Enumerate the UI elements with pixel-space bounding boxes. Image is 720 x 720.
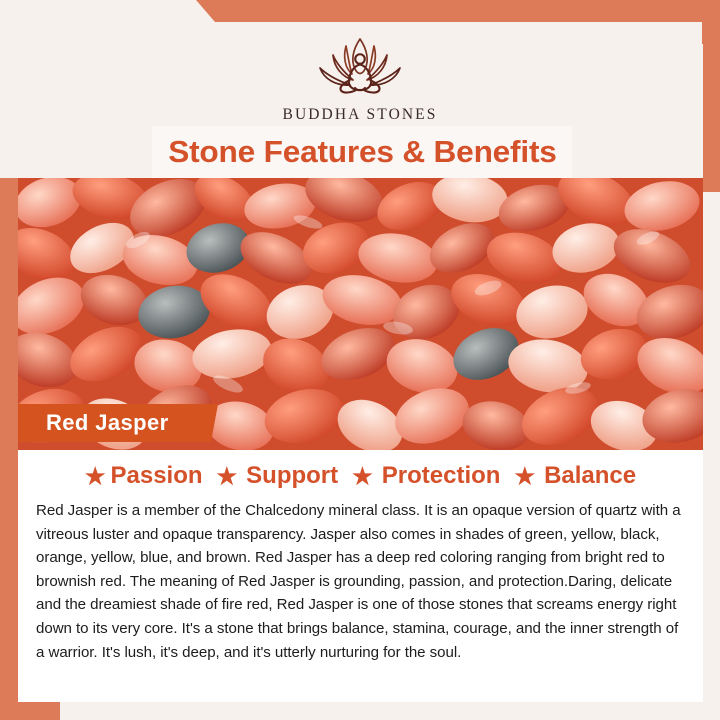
benefit-item-passion: ★ Passion xyxy=(85,462,203,490)
benefit-label-balance: Balance xyxy=(544,462,636,490)
star-icon: ★ xyxy=(514,465,535,488)
benefit-label-support: Support xyxy=(246,462,338,490)
right-orange-rail xyxy=(703,0,720,192)
left-orange-rail xyxy=(0,178,18,720)
benefit-item-protection: ★ Protection xyxy=(352,462,500,490)
brand-logo: BUDDHA STONES xyxy=(18,30,702,124)
stone-name-label: Red Jasper xyxy=(18,410,169,436)
star-icon: ★ xyxy=(352,465,373,488)
benefit-item-balance: ★ Balance xyxy=(514,462,636,490)
brand-name: BUDDHA STONES xyxy=(283,106,438,124)
star-icon: ★ xyxy=(217,465,238,488)
lotus-meditation-figure-icon xyxy=(300,30,420,102)
star-icon: ★ xyxy=(85,465,106,488)
description-card: ★ Passion ★ Support ★ Protection ★ Balan… xyxy=(18,450,703,702)
description-paragraph: Red Jasper is a member of the Chalcedony… xyxy=(36,499,685,664)
bottom-orange-rail xyxy=(0,702,720,720)
benefit-keyword-list: ★ Passion ★ Support ★ Protection ★ Balan… xyxy=(18,450,703,490)
stone-name-banner: Red Jasper xyxy=(18,404,218,442)
infographic-page: BUDDHA STONES xyxy=(0,0,720,720)
page-title-plate: Stone Features & Benefits xyxy=(152,126,572,178)
benefit-label-passion: Passion xyxy=(110,462,202,490)
page-title: Stone Features & Benefits xyxy=(168,134,556,170)
benefit-item-support: ★ Support xyxy=(217,462,339,490)
benefit-label-protection: Protection xyxy=(382,462,501,490)
